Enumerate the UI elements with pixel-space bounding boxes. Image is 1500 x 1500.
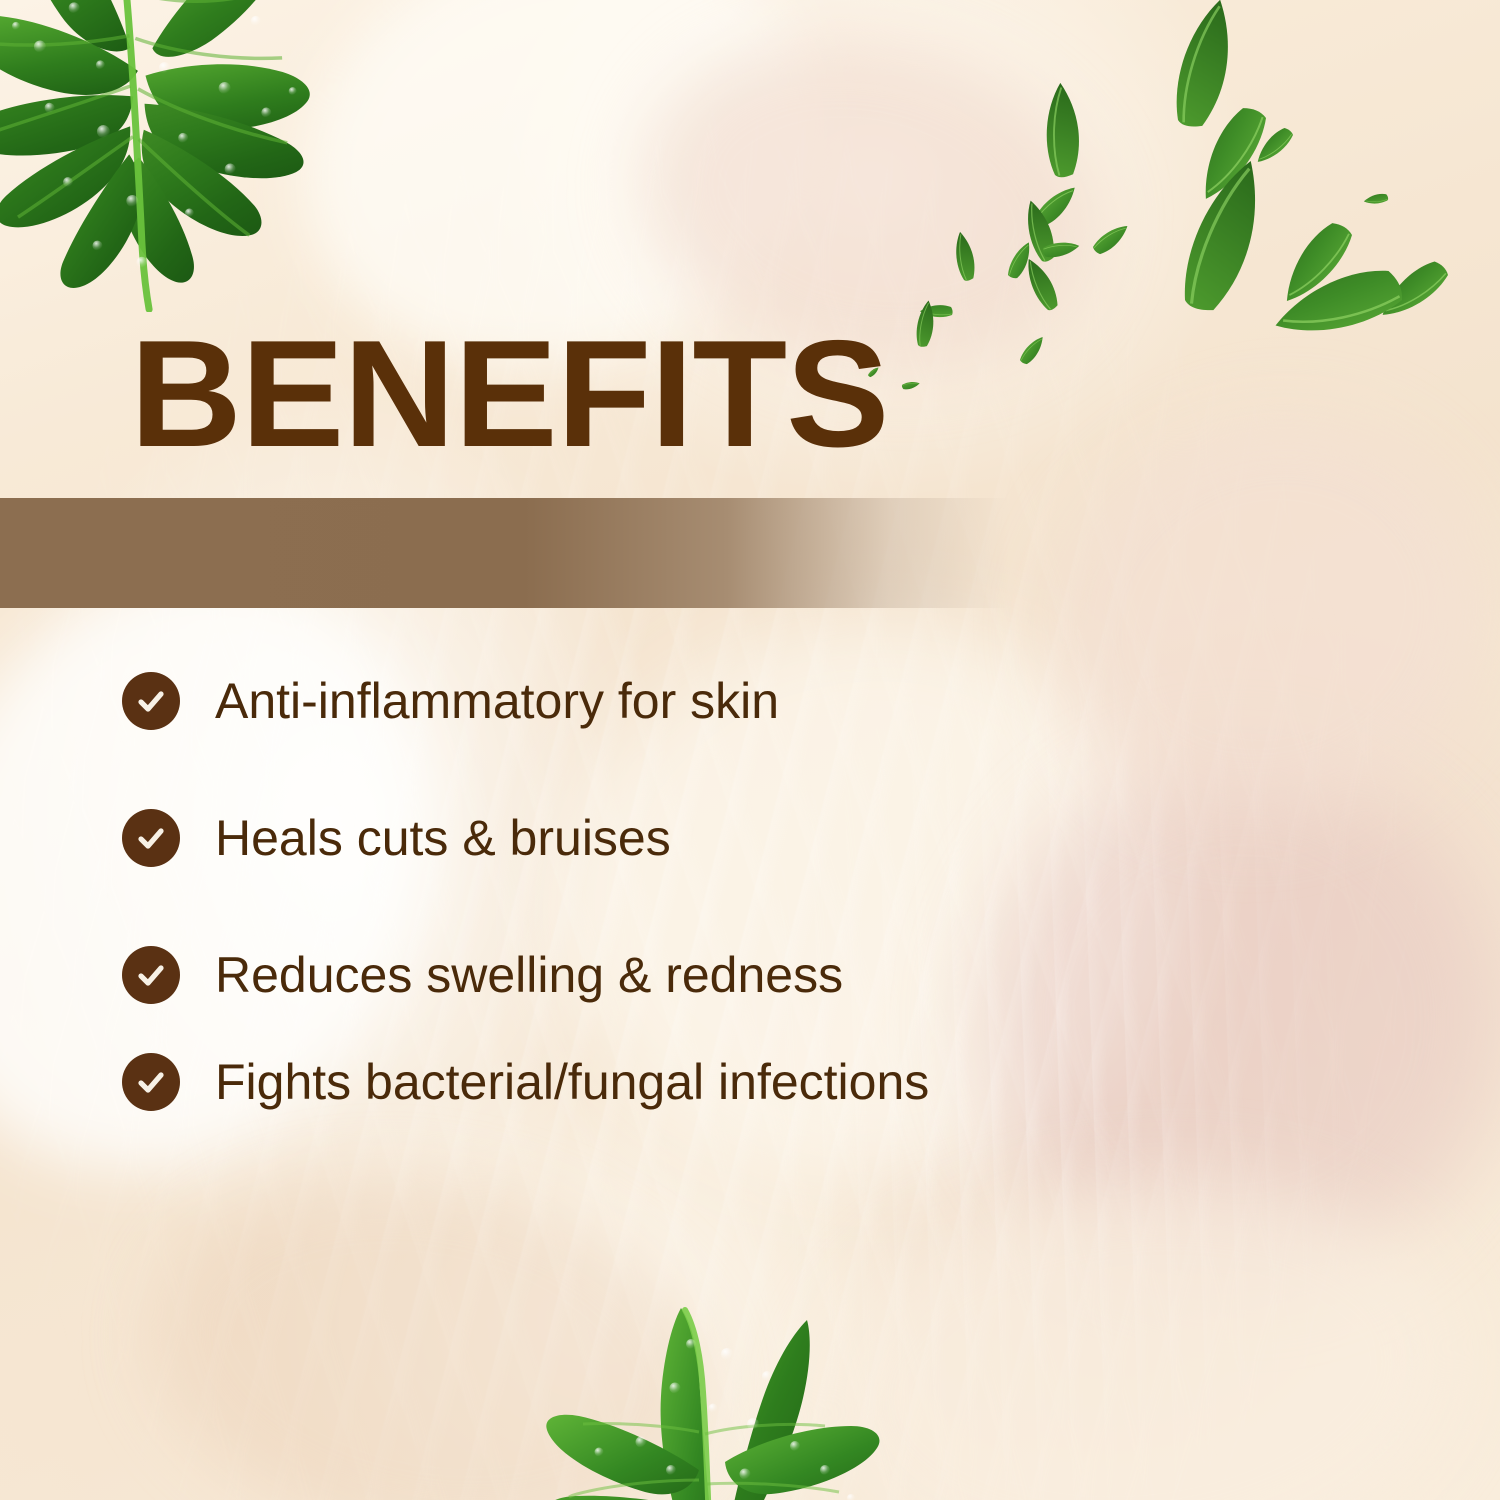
list-item: Heals cuts & bruises	[122, 809, 671, 867]
infographic-canvas: BENEFITS Anti-inflammatory for skin Heal…	[0, 0, 1500, 1500]
benefit-text: Anti-inflammatory for skin	[215, 672, 779, 730]
check-circle-icon	[122, 946, 180, 1004]
list-item: Reduces swelling & redness	[122, 946, 843, 1004]
list-item: Fights bacterial/fungal infections	[122, 1053, 929, 1111]
benefit-text: Reduces swelling & redness	[215, 946, 843, 1004]
monstera-leaf-bottom	[495, 1282, 935, 1500]
check-circle-icon	[122, 1053, 180, 1111]
leaf-cluster	[857, 0, 1452, 397]
page-title: BENEFITS	[130, 318, 888, 470]
check-circle-icon	[122, 672, 180, 730]
benefit-text: Heals cuts & bruises	[215, 809, 671, 867]
section-divider-bar	[0, 498, 1010, 608]
list-item: Anti-inflammatory for skin	[122, 672, 779, 730]
check-circle-icon	[122, 809, 180, 867]
benefit-text: Fights bacterial/fungal infections	[215, 1053, 929, 1111]
